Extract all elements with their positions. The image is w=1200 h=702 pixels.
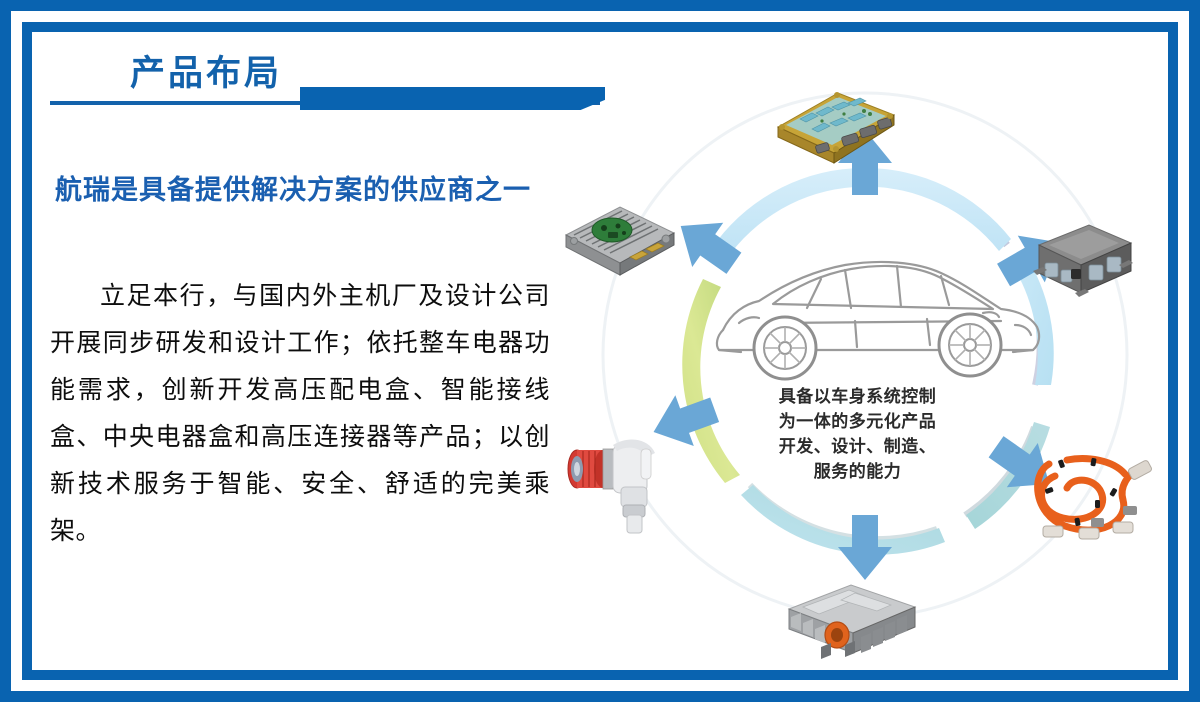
- slide-canvas: 产品布局 航瑞是具备提供解决方案的供应商之一 立足本行，与国内外主机厂及设计公司…: [0, 0, 1200, 702]
- caption-line-1: 具备以车身系统控制: [720, 385, 995, 410]
- car-wheel-rear: [939, 314, 1001, 376]
- title-banner-bar: [300, 87, 605, 110]
- product-node-hv-connector[interactable]: [555, 425, 685, 545]
- product-node-power-distribution-unit[interactable]: [765, 575, 935, 665]
- diagram-center-caption: 具备以车身系统控制 为一体的多元化产品 开发、设计、制造、 服务的能力: [720, 385, 995, 485]
- product-node-hv-cable-harness[interactable]: [1025, 430, 1165, 550]
- power-distribution-unit-icon: [765, 575, 935, 665]
- page-title: 产品布局: [130, 52, 282, 96]
- relay-pcb-module-icon: [760, 75, 910, 165]
- car-wheel-front: [754, 317, 816, 379]
- hv-junction-box-icon: [1015, 215, 1145, 315]
- caption-line-4: 服务的能力: [720, 460, 995, 485]
- product-node-ecu-controller-module[interactable]: [550, 195, 690, 295]
- product-node-relay-pcb-module[interactable]: [760, 75, 910, 165]
- section-subtitle: 航瑞是具备提供解决方案的供应商之一: [55, 168, 531, 207]
- page-title-group: 产品布局: [50, 52, 620, 122]
- arrow-bottom: [838, 515, 892, 580]
- hv-cable-harness-icon: [1025, 430, 1165, 550]
- product-node-hv-junction-box[interactable]: [1015, 215, 1145, 315]
- body-paragraph: 立足本行，与国内外主机厂及设计公司开展同步研发和设计工作；依托整车电器功能需求，…: [50, 272, 550, 554]
- ecu-controller-module-icon: [550, 195, 690, 295]
- caption-line-2: 为一体的多元化产品: [720, 410, 995, 435]
- product-layout-diagram: 具备以车身系统控制 为一体的多元化产品 开发、设计、制造、 服务的能力: [545, 55, 1185, 665]
- caption-line-3: 开发、设计、制造、: [720, 435, 995, 460]
- ring-arc-bottom: [741, 485, 945, 555]
- hv-connector-icon: [555, 425, 685, 545]
